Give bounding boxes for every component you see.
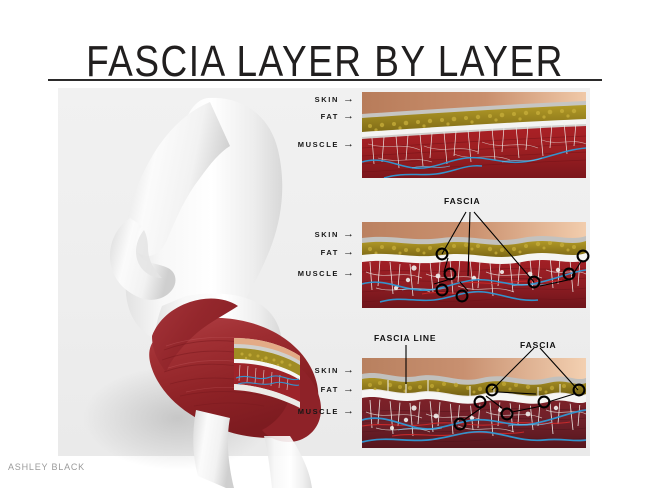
- cross-section-panel-3: [362, 358, 586, 448]
- arrow-icon: →: [343, 95, 354, 103]
- cross-section-panel-1: [362, 92, 586, 178]
- arrow-icon: →: [343, 366, 354, 374]
- label-muscle-panel-1: MUSCLE →: [280, 140, 354, 149]
- label-skin-panel-1: SKIN →: [292, 95, 354, 104]
- callout-fascia-panel-3: FASCIA: [520, 340, 557, 350]
- callout-fascia-line-panel-3: FASCIA LINE: [374, 333, 436, 343]
- title-block: FASCIA LAYER BY LAYER: [0, 38, 650, 78]
- label-fat-panel-3: FAT →: [292, 385, 354, 394]
- arrow-icon: →: [343, 385, 354, 393]
- arrow-icon: →: [343, 112, 354, 120]
- label-skin-panel-2: SKIN →: [292, 230, 354, 239]
- label-muscle-panel-2: MUSCLE →: [280, 269, 354, 278]
- arrow-icon: →: [343, 230, 354, 238]
- label-skin-panel-3: SKIN →: [292, 366, 354, 375]
- arrow-icon: →: [343, 407, 354, 415]
- label-fat-panel-2: FAT →: [292, 248, 354, 257]
- arrow-icon: →: [343, 140, 354, 148]
- arrow-icon: →: [343, 248, 354, 256]
- label-muscle-panel-3: MUSCLE →: [280, 407, 354, 416]
- cross-section-panel-2: [362, 222, 586, 308]
- label-fat-panel-1: FAT →: [292, 112, 354, 121]
- arrow-icon: →: [343, 269, 354, 277]
- title-underline-rule: [48, 79, 602, 81]
- credit-text: ASHLEY BLACK: [8, 462, 85, 472]
- callout-fascia-panel-2: FASCIA: [444, 196, 481, 206]
